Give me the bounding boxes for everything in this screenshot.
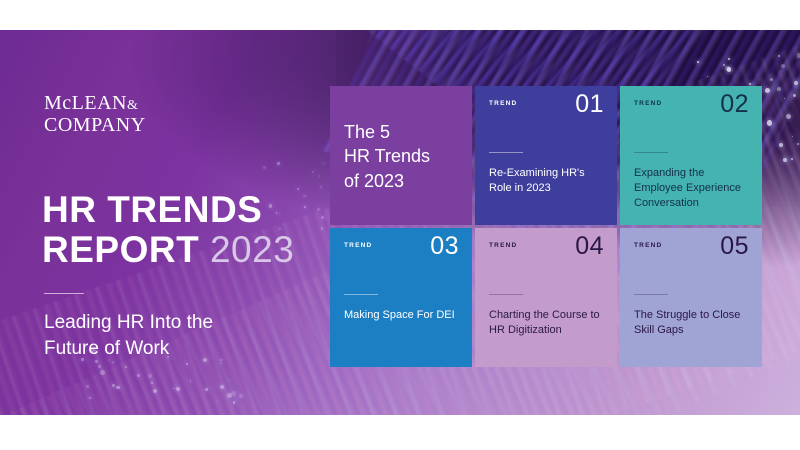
title-divider bbox=[44, 293, 84, 294]
hero-line-1: The 5 bbox=[344, 120, 462, 144]
trend-label-04: TREND bbox=[489, 242, 517, 249]
subtitle-line-2: Future of Work bbox=[44, 336, 304, 362]
subtitle-line-1: Leading HR Into the bbox=[44, 310, 304, 336]
logo-ampersand: & bbox=[127, 98, 138, 113]
trend-label-02: TREND bbox=[634, 100, 662, 107]
tile-trend-02[interactable]: TREND 02 Expanding the Employee Experien… bbox=[620, 86, 762, 225]
tile-hero-the-5-hr-trends[interactable]: The 5 HR Trends of 2023 bbox=[330, 86, 472, 225]
trend-title-04: Charting the Course to HR Digitization bbox=[489, 308, 605, 338]
trend-number-02: 02 bbox=[720, 92, 749, 117]
title-year: 2023 bbox=[210, 229, 294, 270]
trend-title-03: Making Space For DEI bbox=[344, 308, 460, 323]
title-line-2: REPORT bbox=[42, 229, 199, 270]
logo-text-company: COMPANY bbox=[44, 114, 146, 136]
slide-canvas: McLEAN& COMPANY HR TRENDS REPORT 2023 Le… bbox=[0, 0, 800, 450]
trend-tile-grid: The 5 HR Trends of 2023 TREND 01 Re-Exam… bbox=[330, 86, 762, 367]
tile-trend-05[interactable]: TREND 05 The Struggle to Close Skill Gap… bbox=[620, 228, 762, 367]
mclean-company-logo: McLEAN& COMPANY bbox=[44, 92, 146, 137]
tile-trend-04[interactable]: TREND 04 Charting the Course to HR Digit… bbox=[475, 228, 617, 367]
trend-title-05: The Struggle to Close Skill Gaps bbox=[634, 308, 750, 338]
logo-text-mclean: McLEAN bbox=[44, 92, 127, 114]
title-line-1: HR TRENDS bbox=[42, 190, 332, 230]
trend-divider-03 bbox=[344, 294, 378, 295]
trend-number-04: 04 bbox=[575, 234, 604, 259]
trend-label-01: TREND bbox=[489, 100, 517, 107]
trend-divider-04 bbox=[489, 294, 523, 295]
trend-title-02: Expanding the Employee Experience Conver… bbox=[634, 166, 750, 212]
tile-trend-01[interactable]: TREND 01 Re-Examining HR's Role in 2023 bbox=[475, 86, 617, 225]
trend-divider-02 bbox=[634, 152, 668, 153]
trend-divider-01 bbox=[489, 152, 523, 153]
page-title: HR TRENDS REPORT 2023 bbox=[42, 190, 332, 270]
trend-label-03: TREND bbox=[344, 242, 372, 249]
trend-number-03: 03 bbox=[430, 234, 459, 259]
trend-label-05: TREND bbox=[634, 242, 662, 249]
hero-line-3: of 2023 bbox=[344, 169, 462, 193]
hero-line-2: HR Trends bbox=[344, 144, 462, 168]
page-subtitle: Leading HR Into the Future of Work bbox=[44, 310, 304, 361]
trend-number-01: 01 bbox=[575, 92, 604, 117]
report-cover-artwork: McLEAN& COMPANY HR TRENDS REPORT 2023 Le… bbox=[0, 30, 800, 415]
trend-number-05: 05 bbox=[720, 234, 749, 259]
trend-divider-05 bbox=[634, 294, 668, 295]
tile-trend-03[interactable]: TREND 03 Making Space For DEI bbox=[330, 228, 472, 367]
title-line-2-wrap: REPORT 2023 bbox=[42, 230, 332, 270]
trend-title-01: Re-Examining HR's Role in 2023 bbox=[489, 166, 605, 196]
hero-tile-text: The 5 HR Trends of 2023 bbox=[344, 120, 462, 193]
